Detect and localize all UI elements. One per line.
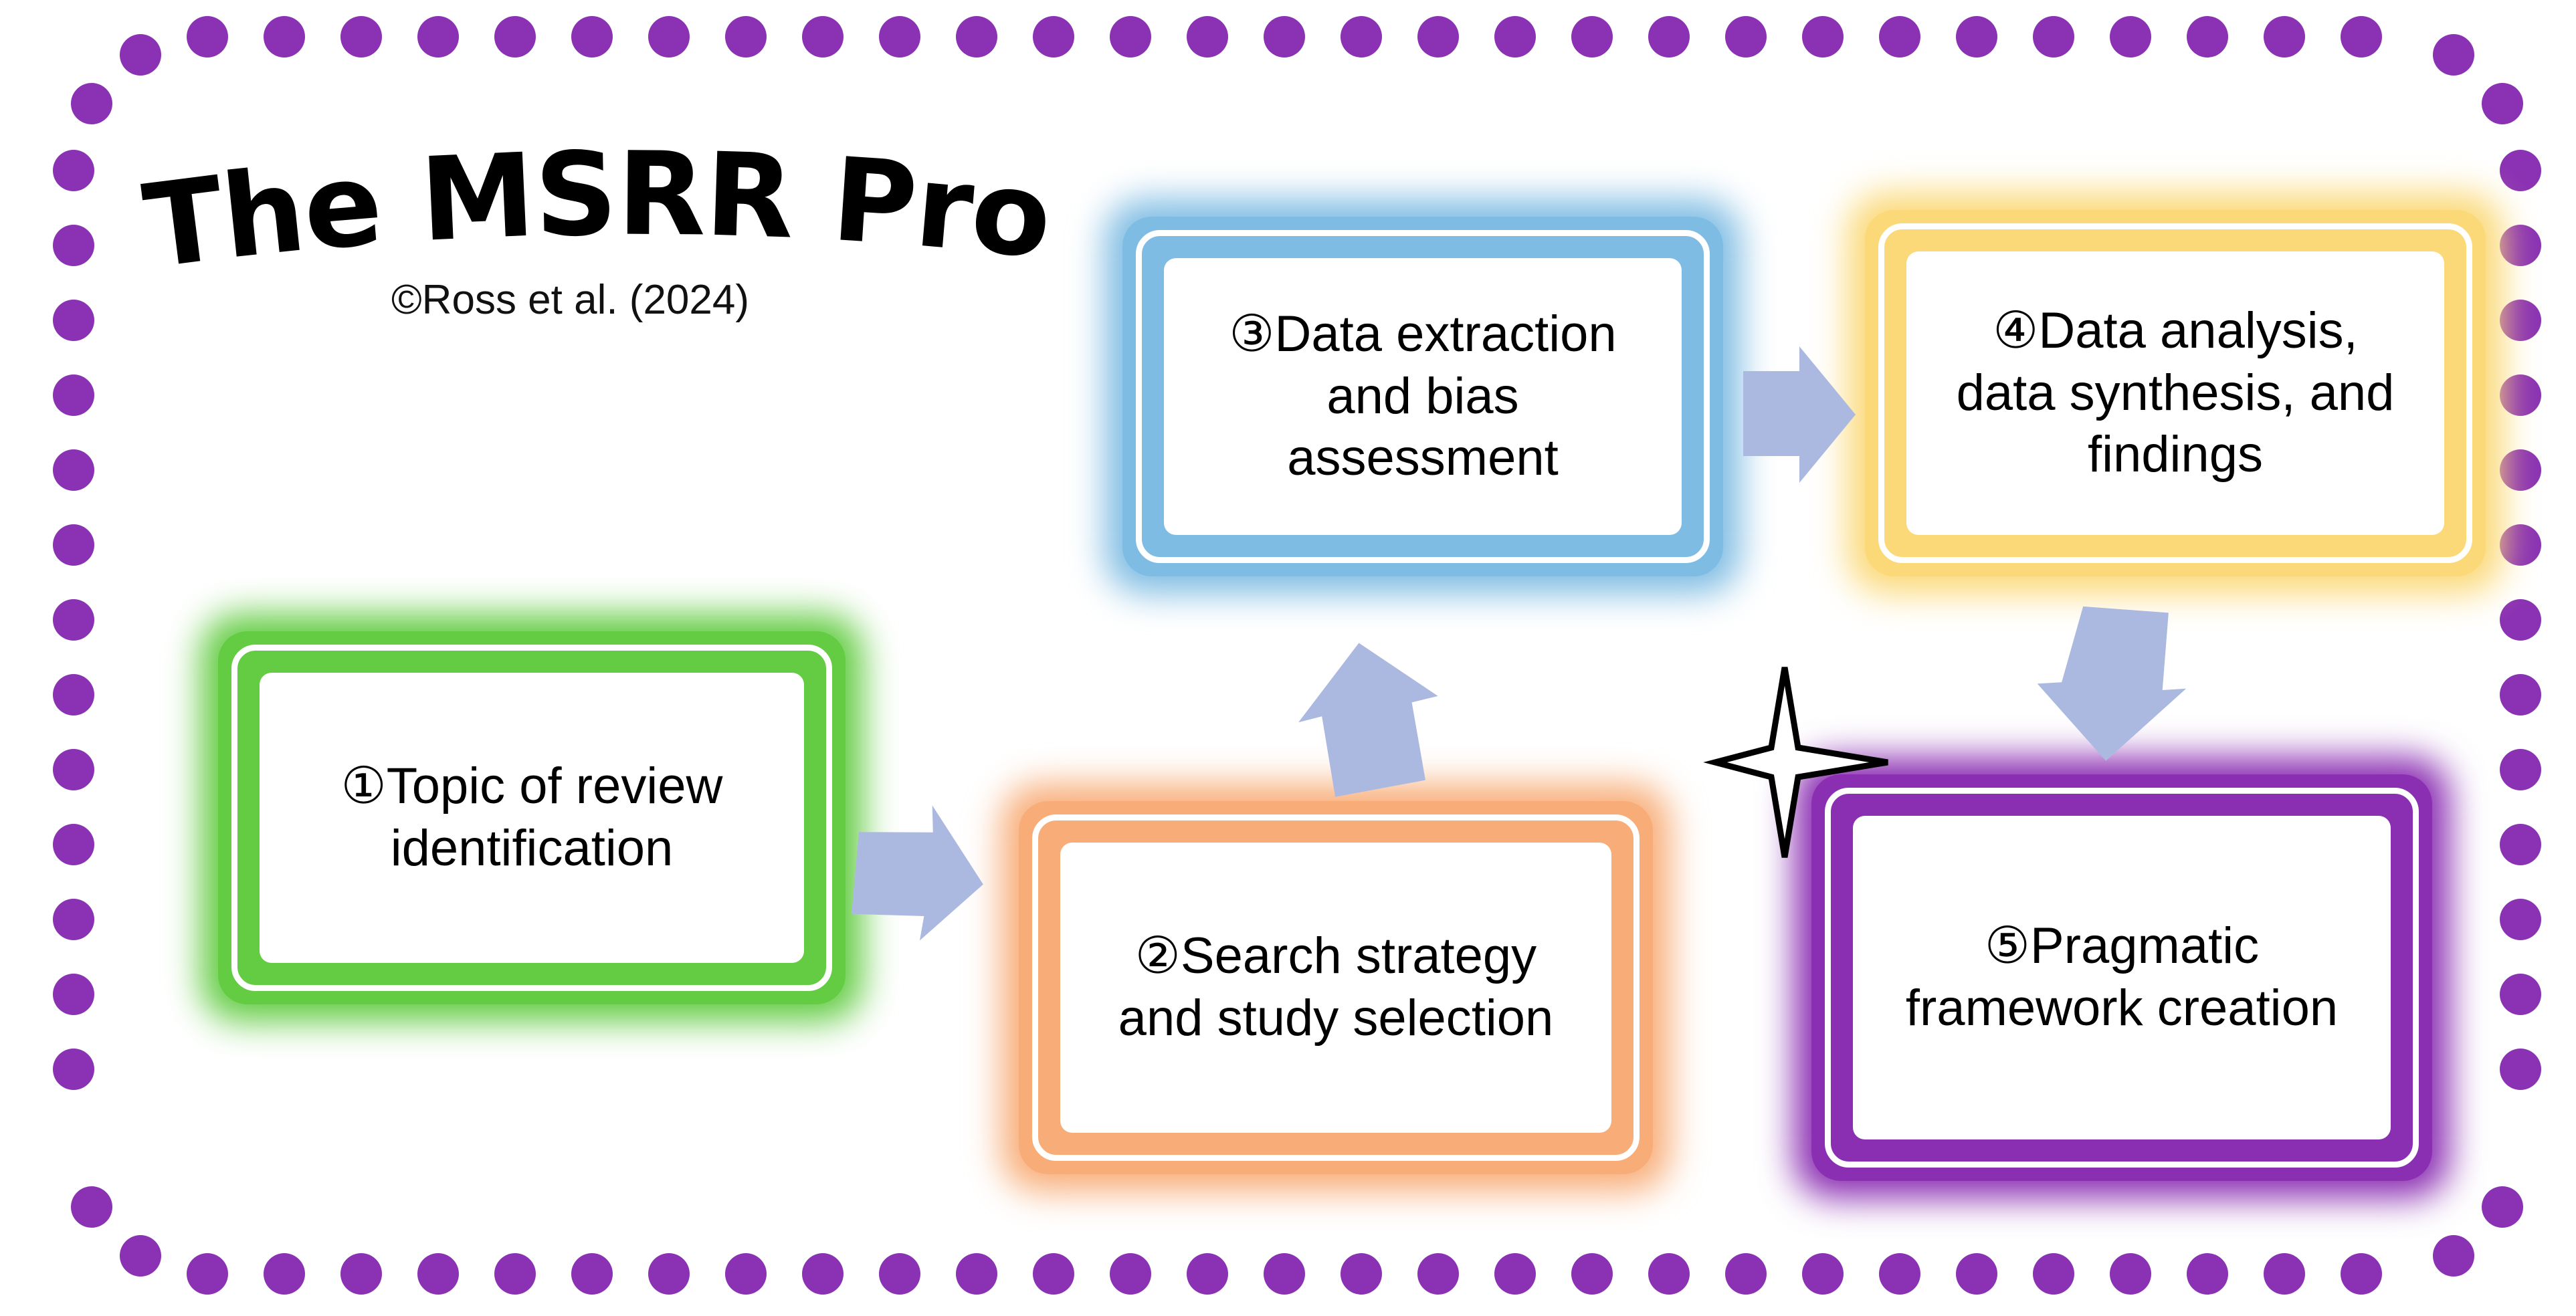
- frame-dot: [2433, 34, 2474, 76]
- frame-dot: [2500, 824, 2541, 865]
- frame-dot: [1879, 1253, 1920, 1295]
- frame-dot: [1802, 1253, 1844, 1295]
- frame-dot: [53, 225, 94, 266]
- frame-dot: [1648, 1253, 1690, 1295]
- frame-dot: [494, 16, 536, 58]
- frame-dot: [2264, 1253, 2305, 1295]
- title-block: The MSRR Process ©Ross et al. (2024): [144, 124, 1080, 344]
- frame-dot: [2500, 1049, 2541, 1090]
- frame-dot: [53, 300, 94, 341]
- frame-dot: [53, 524, 94, 566]
- step-5-label: ⑤Pragmatic framework creation: [1890, 915, 2354, 1039]
- frame-dot: [725, 1253, 767, 1295]
- arrow-step-2-to-step-3: [1294, 639, 1448, 796]
- process-step-3-data-extraction-and-bias-assessment[interactable]: ③Data extraction and bias assessment: [1105, 199, 1741, 594]
- frame-dot: [1956, 16, 1997, 58]
- arrow-right-glyph: [1743, 346, 1856, 483]
- frame-dot: [187, 1253, 228, 1295]
- frame-dot: [1802, 16, 1844, 58]
- frame-dot: [53, 674, 94, 716]
- frame-dot: [53, 150, 94, 191]
- frame-dot: [2033, 16, 2074, 58]
- frame-dot: [1494, 1253, 1536, 1295]
- frame-dot: [1110, 16, 1151, 58]
- frame-dot: [956, 16, 997, 58]
- frame-dot: [53, 824, 94, 865]
- frame-dot: [2341, 1253, 2382, 1295]
- frame-dot: [1648, 16, 1690, 58]
- frame-dot: [725, 16, 767, 58]
- frame-dot: [802, 1253, 844, 1295]
- arrow-step-1-to-step-2: [841, 802, 989, 956]
- frame-dot: [2187, 1253, 2228, 1295]
- frame-dot: [120, 34, 161, 76]
- frame-dot: [879, 16, 920, 58]
- frame-dot: [879, 1253, 920, 1295]
- frame-dot: [1417, 16, 1459, 58]
- step-4-label: ④Data analysis, data synthesis, and find…: [1941, 300, 2411, 486]
- frame-dot: [1264, 1253, 1305, 1295]
- frame-dot: [2341, 16, 2382, 58]
- frame-dot: [2500, 674, 2541, 716]
- frame-dot: [2187, 16, 2228, 58]
- frame-dot: [2500, 899, 2541, 940]
- frame-dot: [2433, 1235, 2474, 1277]
- frame-dot: [1725, 16, 1767, 58]
- arrow-step-3-to-step-4: [1738, 341, 1858, 488]
- frame-dot: [340, 16, 382, 58]
- frame-dot: [571, 16, 613, 58]
- arrow-down-glyph: [2030, 600, 2194, 768]
- frame-dot: [494, 1253, 536, 1295]
- frame-dot: [2110, 16, 2151, 58]
- frame-dot: [648, 1253, 690, 1295]
- frame-dot: [53, 374, 94, 416]
- sparkle-glyph: [1715, 667, 1888, 857]
- frame-dot: [53, 1049, 94, 1090]
- step-3-label: ③Data extraction and bias assessment: [1213, 304, 1632, 489]
- frame-dot: [1571, 1253, 1613, 1295]
- step-1-label: ①Topic of review identification: [325, 756, 739, 879]
- frame-dot: [2033, 1253, 2074, 1295]
- frame-dot: [1187, 1253, 1228, 1295]
- frame-dot: [2500, 599, 2541, 641]
- diagram-canvas: The MSRR Process ©Ross et al. (2024) ①To…: [0, 0, 2576, 1316]
- frame-dot: [2500, 749, 2541, 790]
- frame-dot: [2482, 1186, 2523, 1228]
- process-step-1-topic-of-review-identification[interactable]: ①Topic of review identification: [201, 614, 863, 1022]
- frame-dot: [264, 1253, 305, 1295]
- frame-dot: [53, 899, 94, 940]
- step-2-label: ②Search strategy and study selection: [1102, 925, 1570, 1049]
- frame-dot: [53, 974, 94, 1015]
- sparkle-star-icon: [1712, 662, 1893, 863]
- frame-dot: [53, 599, 94, 641]
- frame-dot: [1264, 16, 1305, 58]
- frame-dot: [120, 1235, 161, 1277]
- frame-dot: [2500, 974, 2541, 1015]
- frame-dot: [2264, 16, 2305, 58]
- frame-dot: [1494, 16, 1536, 58]
- arrow-up-glyph: [1288, 633, 1450, 800]
- frame-dot: [340, 1253, 382, 1295]
- frame-dot: [417, 1253, 459, 1295]
- frame-dot: [417, 16, 459, 58]
- frame-dot: [1417, 1253, 1459, 1295]
- frame-dot: [53, 749, 94, 790]
- frame-dot: [2110, 1253, 2151, 1295]
- arrow-right-glyph: [847, 797, 992, 948]
- frame-dot: [2500, 524, 2541, 566]
- page-title: The MSRR Process: [106, 17, 1057, 294]
- arrow-step-4-to-step-5: [2027, 605, 2184, 766]
- frame-dot: [2482, 83, 2523, 124]
- frame-dot: [71, 83, 112, 124]
- frame-dot: [1110, 1253, 1151, 1295]
- frame-dot: [187, 16, 228, 58]
- frame-dot: [1571, 16, 1613, 58]
- frame-dot: [571, 1253, 613, 1295]
- frame-dot: [2500, 449, 2541, 491]
- frame-dot: [802, 16, 844, 58]
- title-credit: ©Ross et al. (2024): [391, 276, 749, 324]
- frame-dot: [2500, 374, 2541, 416]
- frame-dot: [956, 1253, 997, 1295]
- frame-dot: [2500, 300, 2541, 341]
- frame-dot: [1033, 16, 1074, 58]
- process-step-4-data-analysis-synthesis-findings[interactable]: ④Data analysis, data synthesis, and find…: [1848, 193, 2503, 594]
- frame-dot: [648, 16, 690, 58]
- frame-dot: [1033, 1253, 1074, 1295]
- frame-dot: [2500, 150, 2541, 191]
- process-step-2-search-strategy-and-study-selection[interactable]: ②Search strategy and study selection: [1001, 784, 1670, 1192]
- frame-dot: [1341, 16, 1382, 58]
- frame-dot: [71, 1186, 112, 1228]
- frame-dot: [1725, 1253, 1767, 1295]
- frame-dot: [53, 449, 94, 491]
- frame-dot: [1341, 1253, 1382, 1295]
- frame-dot: [1956, 1253, 1997, 1295]
- frame-dot: [264, 16, 305, 58]
- frame-dot: [1879, 16, 1920, 58]
- frame-dot: [2500, 225, 2541, 266]
- frame-dot: [1187, 16, 1228, 58]
